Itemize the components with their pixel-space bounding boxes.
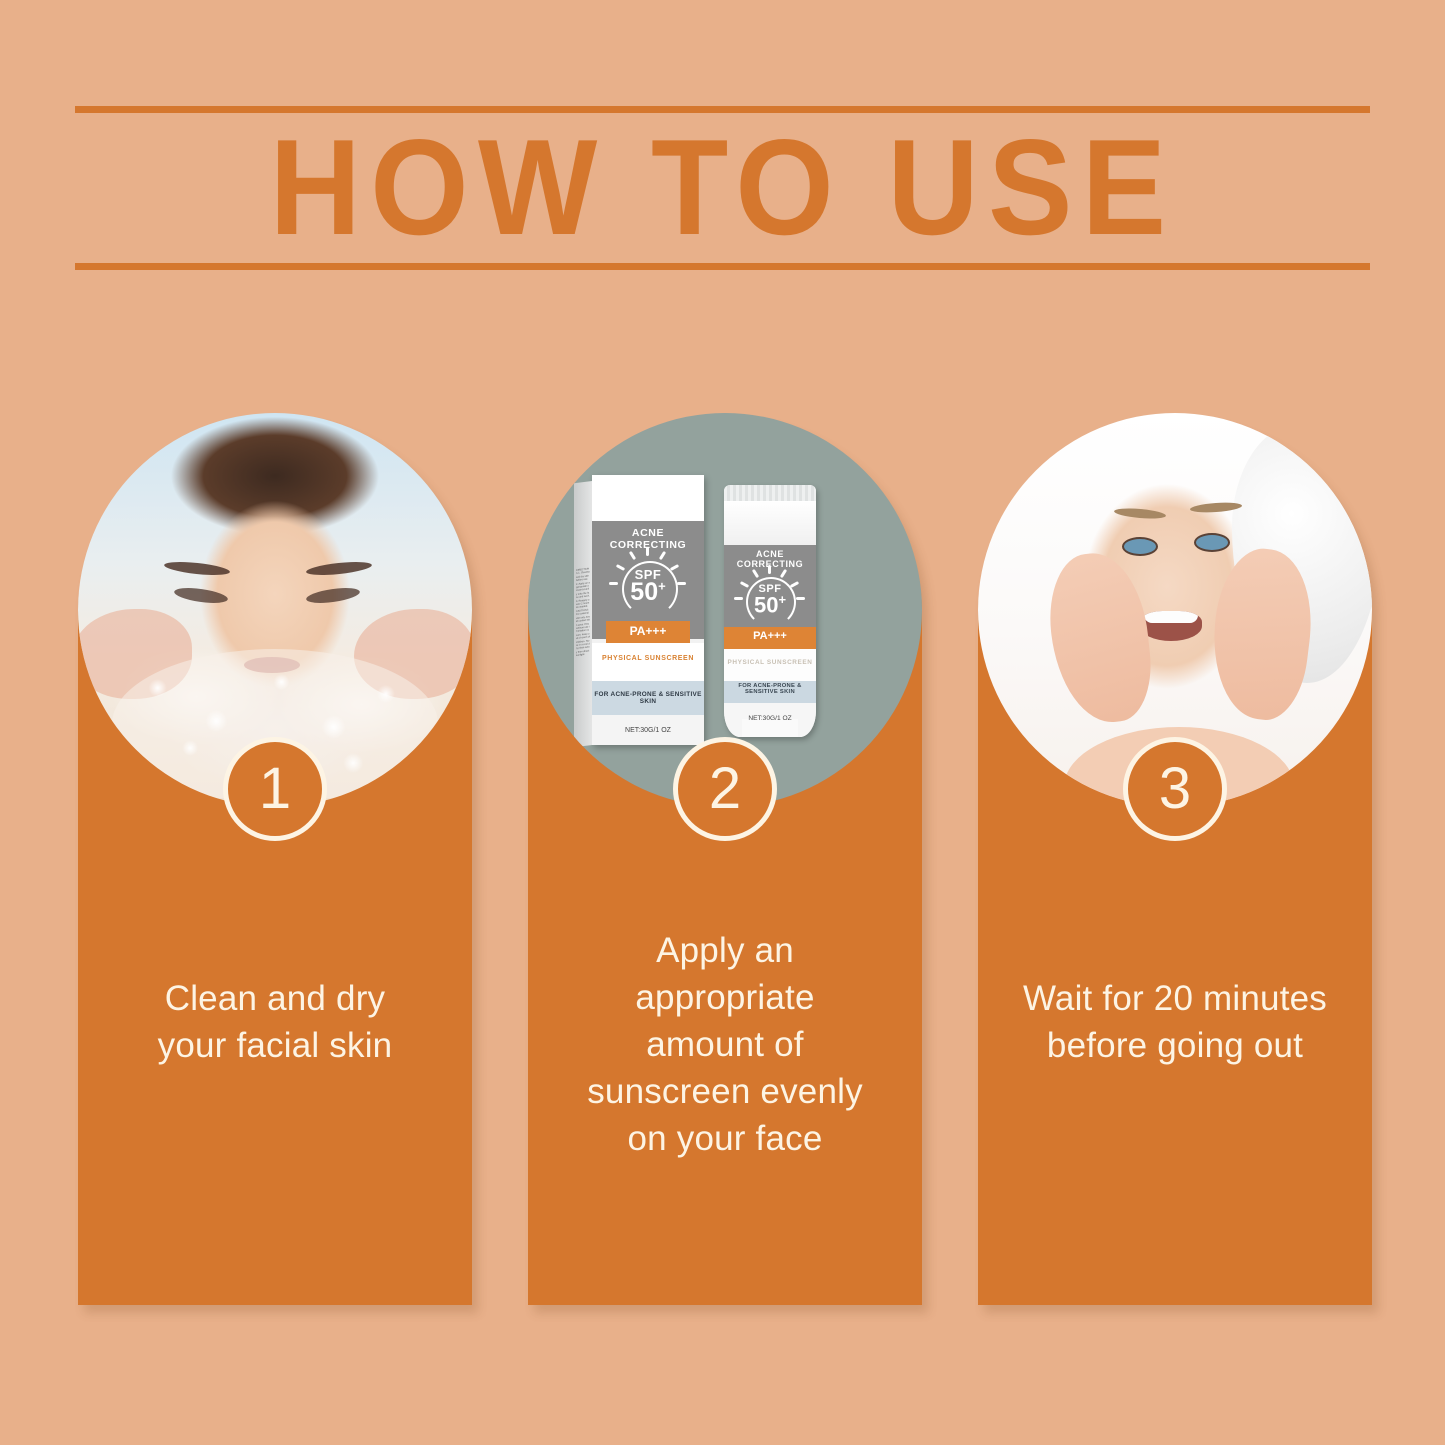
- step-caption-2: Apply an appropriate amount of sunscreen…: [534, 927, 916, 1162]
- tube-product-type-label: PHYSICAL SUNSCREEN: [724, 659, 816, 666]
- caption-line: Clean and dry: [84, 975, 466, 1022]
- step-number-badge-2: 2: [673, 737, 777, 841]
- step-caption-1: Clean and dry your facial skin: [84, 975, 466, 1069]
- title-rule-bottom: [75, 263, 1370, 270]
- caption-line: Apply an: [534, 927, 916, 974]
- caption-line: your facial skin: [84, 1022, 466, 1069]
- product-skintype-label: FOR ACNE-PRONE & SENSITIVE SKIN: [592, 691, 704, 705]
- carton-band-white-mid: [592, 643, 704, 681]
- carton-side-text: DIRECTIONS 1. Cleanse and dry skin befor…: [574, 481, 592, 658]
- eye-left: [1122, 537, 1158, 556]
- spf-value: 50+: [611, 578, 685, 607]
- eye-right: [305, 585, 360, 605]
- step-card-1: 1 Clean and dry your facial skin: [78, 415, 472, 1305]
- step-caption-3: Wait for 20 minutes before going out: [984, 975, 1366, 1069]
- carton-side-panel: DIRECTIONS 1. Cleanse and dry skin befor…: [574, 481, 592, 747]
- tube-shoulder: [724, 501, 816, 545]
- sun-icon: SPF 50+: [737, 565, 803, 621]
- product-type-label: PHYSICAL SUNSCREEN: [592, 655, 704, 662]
- spf-sun-badge: SPF 50+: [592, 547, 704, 609]
- eyebrow-left: [164, 560, 231, 578]
- tube-pa-rating-label: PA+++: [724, 630, 816, 642]
- tube-netweight-label: NET:30G/1 OZ: [724, 715, 816, 722]
- mouth: [1140, 611, 1202, 641]
- eye-right: [1194, 533, 1230, 552]
- spf-value: 50+: [737, 592, 803, 618]
- caption-line: amount of: [534, 1021, 916, 1068]
- product-netweight-label: NET:30G/1 OZ: [592, 727, 704, 734]
- eye-left: [173, 585, 228, 605]
- tube-skintype-label: FOR ACNE-PRONE & SENSITIVE SKIN: [724, 683, 816, 695]
- carton-band-white-top: [592, 475, 704, 521]
- eyebrow-right: [306, 560, 373, 578]
- caption-line: appropriate: [534, 974, 916, 1021]
- hand-left: [1043, 548, 1156, 727]
- caption-line: Wait for 20 minutes: [984, 975, 1366, 1022]
- step-card-3: 3 Wait for 20 minutes before going out: [978, 415, 1372, 1305]
- step-number-badge-3: 3: [1123, 737, 1227, 841]
- steps-row: 1 Clean and dry your facial skin DIRECTI…: [0, 415, 1445, 1315]
- product-carton: DIRECTIONS 1. Cleanse and dry skin befor…: [592, 475, 704, 745]
- tube-crimp: [724, 485, 816, 501]
- step-number-badge-1: 1: [223, 737, 327, 841]
- header: HOW TO USE: [0, 0, 1445, 330]
- pa-rating-label: PA+++: [606, 624, 690, 638]
- eyebrow-left: [1114, 507, 1167, 520]
- step-card-2: DIRECTIONS 1. Cleanse and dry skin befor…: [528, 415, 922, 1305]
- page-title: HOW TO USE: [51, 112, 1395, 262]
- tube-spf-sun-badge: SPF 50+: [724, 565, 816, 621]
- caption-line: on your face: [534, 1115, 916, 1162]
- caption-line: before going out: [984, 1022, 1366, 1069]
- caption-line: sunscreen evenly: [534, 1068, 916, 1115]
- sun-icon: SPF 50+: [611, 547, 685, 609]
- product-tube: ACNE CORRECTING SPF 50+: [724, 485, 816, 737]
